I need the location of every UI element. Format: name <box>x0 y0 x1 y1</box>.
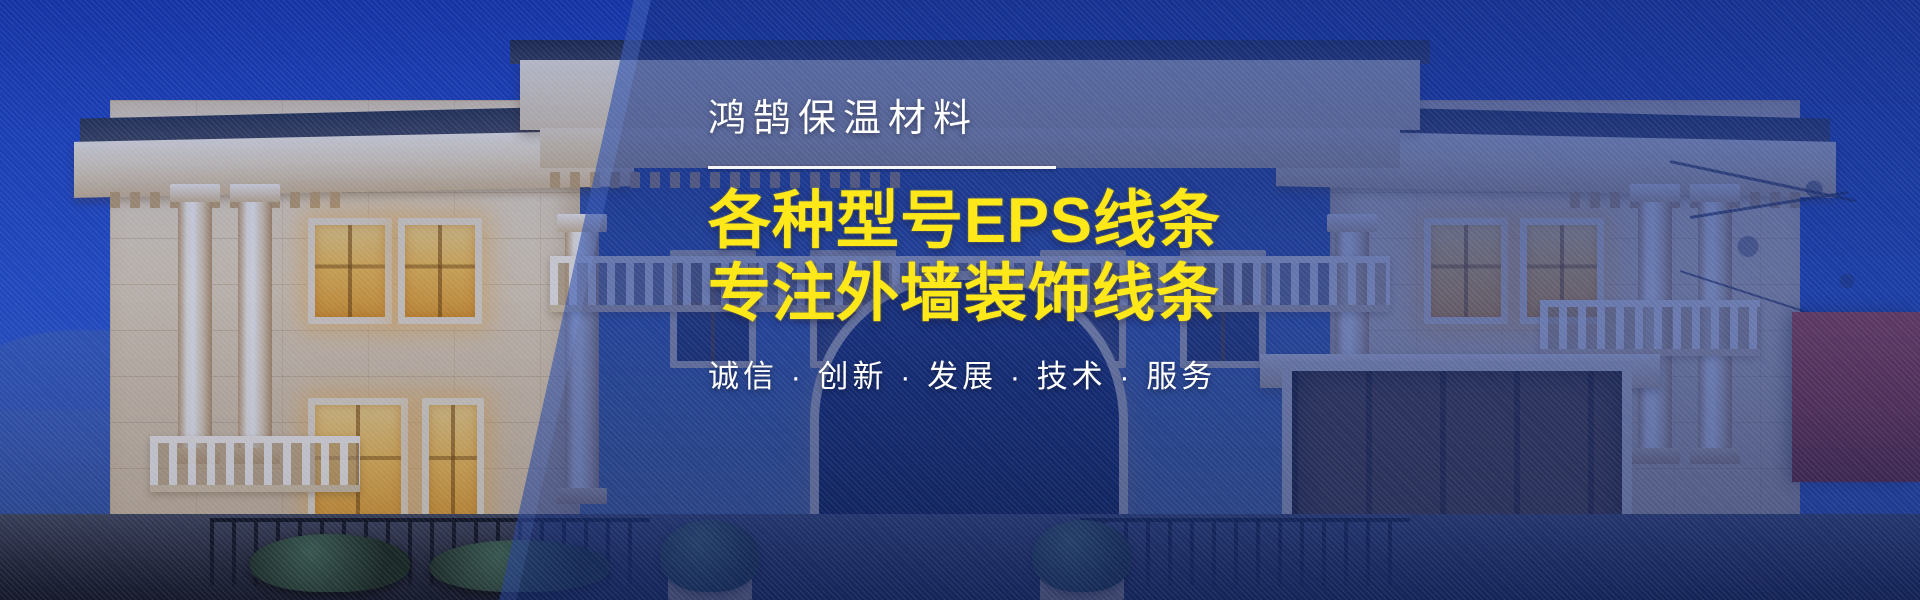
banner-copy: 鸿鹄保温材料 各种型号EPS线条 专注外墙装饰线条 诚信 · 创新 · 发展 ·… <box>708 96 1708 397</box>
hero-banner: 鸿鹄保温材料 各种型号EPS线条 专注外墙装饰线条 诚信 · 创新 · 发展 ·… <box>0 0 1920 600</box>
divider-rule <box>708 166 1056 169</box>
brand-name: 鸿鹄保温材料 <box>708 96 1708 144</box>
headline-line-1: 各种型号EPS线条 <box>708 185 1708 258</box>
tagline: 诚信 · 创新 · 发展 · 技术 · 服务 <box>708 357 1708 397</box>
headline-line-2: 专注外墙装饰线条 <box>708 258 1708 331</box>
